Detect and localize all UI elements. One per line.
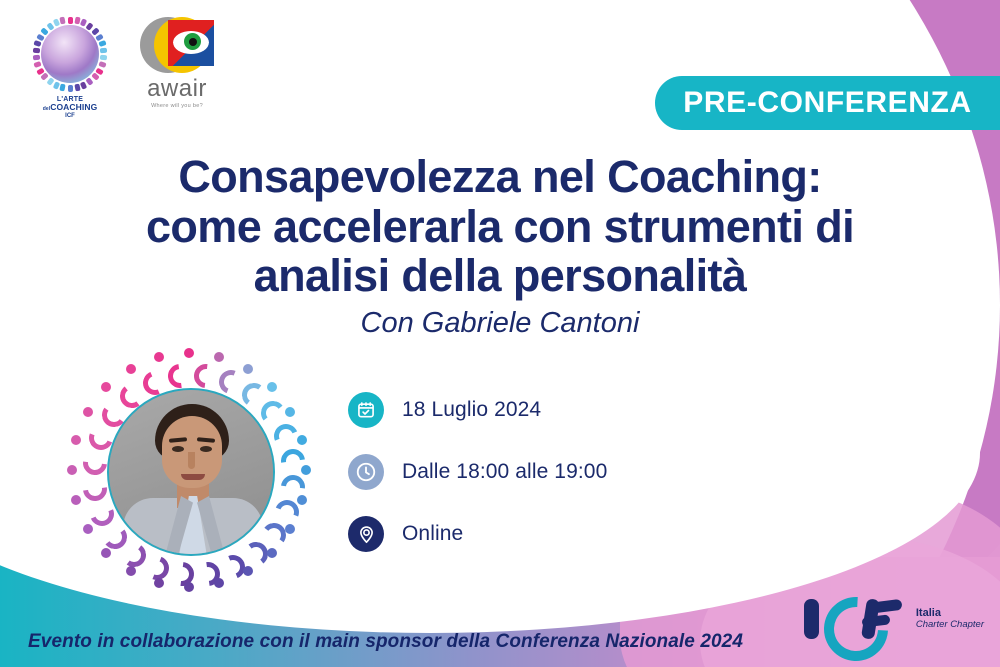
ring-dot [184,582,194,592]
ring-dot [67,465,77,475]
awair-eye-icon [140,14,214,76]
photo-eye-right [200,446,212,452]
calendar-icon [348,392,384,428]
ring-dot [184,348,194,358]
ring-dot [243,364,253,374]
arte-line3: ICF [43,113,98,119]
arte-ring-dot [100,48,107,54]
arte-line2: delCOACHING [43,103,98,112]
ring-chevron [270,420,301,451]
arte-ring-dot [98,61,106,68]
arte-ring-dot [32,55,39,61]
page-title: Consapevolezza nel Coaching: come accele… [0,152,1000,340]
arte-ring-dot [74,83,80,91]
clock-icon [348,454,384,490]
location-pin-icon [348,516,384,552]
logo-awair: awair Where will you be? [134,14,220,109]
awair-wordmark: awair [147,77,207,101]
detail-row-time: Dalle 18:00 alle 19:00 [348,454,607,490]
detail-text-location: Online [402,522,463,546]
arte-line-small: del [43,106,51,112]
ring-dot [154,352,164,362]
detail-row-location: Online [348,516,607,552]
photo-nose [188,452,195,469]
ring-dot [301,465,311,475]
arte-ring-dot [98,40,106,47]
ring-dot [126,364,136,374]
detail-text-time: Dalle 18:00 alle 19:00 [402,460,607,484]
icf-letter-i [804,599,819,639]
arte-coaching-ring-icon [30,14,110,94]
ring-dot [243,566,253,576]
detail-row-date: 18 Luglio 2024 [348,392,607,428]
ring-dot [126,566,136,576]
logo-icf-italia: Italia Charter Chapter [804,595,984,643]
photo-eye-left [172,446,184,452]
ring-dot [83,407,93,417]
icf-italia-line1: Italia [916,607,984,620]
arte-ring-dot [68,85,73,92]
arte-ring-dot [86,77,94,86]
event-details: 18 Luglio 2024 Dalle 18:00 alle 19:00 On… [348,392,607,552]
arte-coaching-core-icon [41,25,99,83]
title-line-3: analisi della personalità [0,251,1000,301]
ring-dot [83,524,93,534]
arte-ring-dot [34,40,42,47]
icf-wordmark-icon [804,595,908,643]
ring-dot [154,578,164,588]
arte-ring-dot [60,83,66,91]
arte-ring-dot [60,17,66,25]
ring-dot [285,407,295,417]
ring-dot [214,578,224,588]
awair-tagline: Where will you be? [151,103,203,109]
icf-italia-line2: Charter Chapter [916,620,984,631]
title-line-2: come accelerarla con strumenti di [0,202,1000,252]
ring-dot [285,524,295,534]
arte-ring-dot [100,55,107,61]
ring-dot [71,435,81,445]
ring-dot [71,495,81,505]
arte-ring-dot [32,48,39,54]
detail-text-date: 18 Luglio 2024 [402,398,541,422]
speaker-photo [109,390,273,554]
arte-ring-dot [68,17,73,24]
ring-dot [297,495,307,505]
avatar [107,388,275,556]
icf-italia-text: Italia Charter Chapter [916,607,984,631]
title-line-1: Consapevolezza nel Coaching: [0,152,1000,202]
pre-conference-banner: PRE-CONFERENZA [655,76,1000,130]
photo-mouth [181,474,205,480]
ring-dot [214,352,224,362]
arte-coaching-caption: L'ARTE delCOACHING ICF [43,96,98,119]
partner-logos: L'ARTE delCOACHING ICF awair Where will … [24,14,220,119]
speaker-portrait [64,345,314,595]
page-subtitle: Con Gabriele Cantoni [0,307,1000,340]
pre-conference-banner-label: PRE-CONFERENZA [683,86,971,120]
logo-arte-del-coaching: L'ARTE delCOACHING ICF [24,14,116,119]
ring-dot [297,435,307,445]
awair-pupil [189,38,197,46]
footer-note: Evento in collaborazione con il main spo… [28,631,743,653]
arte-ring-dot [34,61,42,68]
event-poster: L'ARTE delCOACHING ICF awair Where will … [0,0,1000,667]
